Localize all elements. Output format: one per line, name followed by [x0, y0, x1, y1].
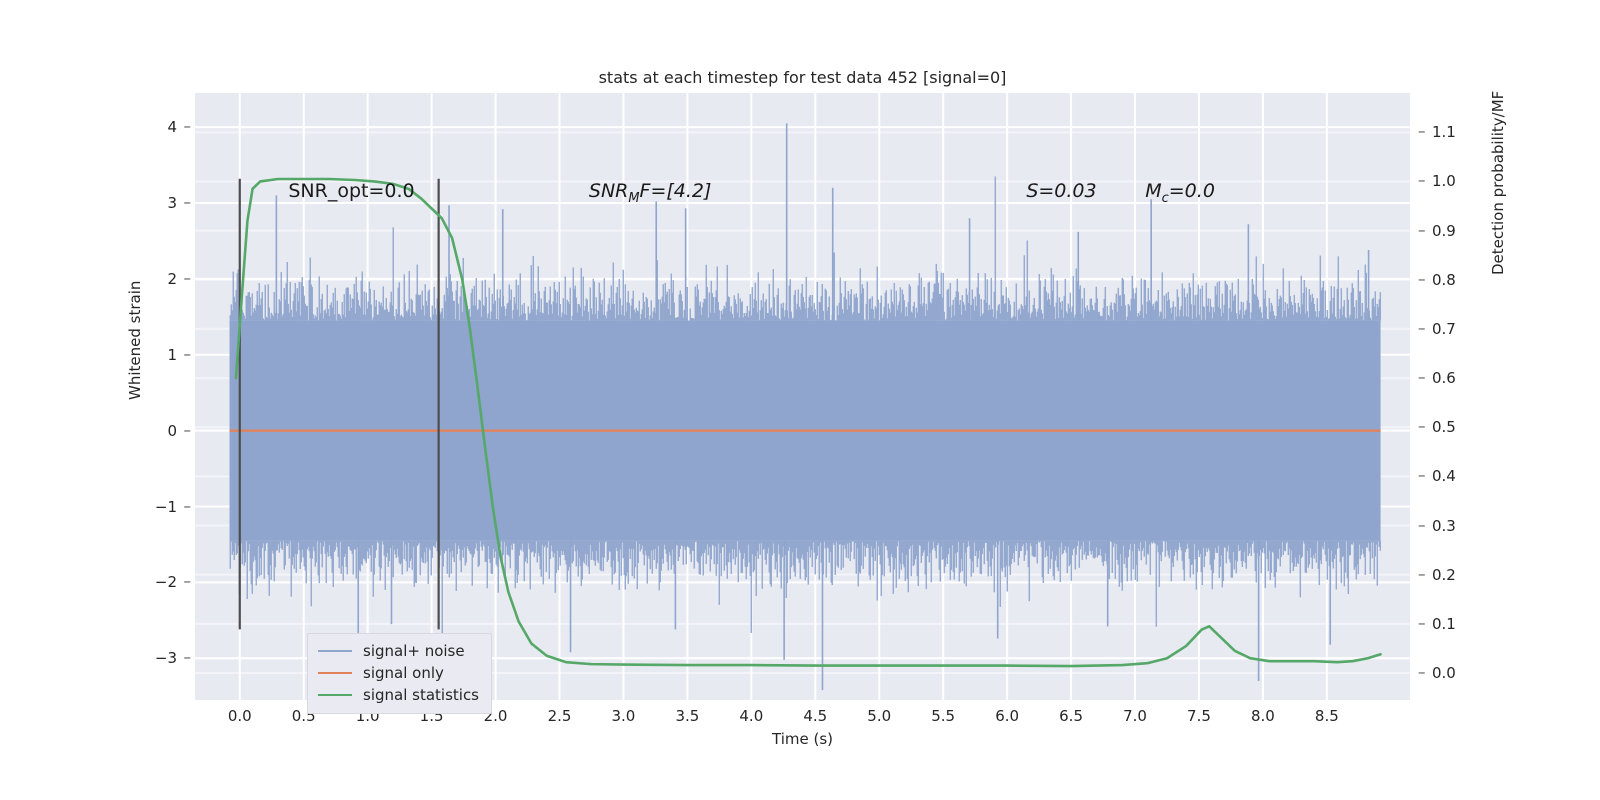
legend-item-2[interactable]: signal statistics	[318, 684, 479, 706]
tick-mark: –	[184, 271, 192, 286]
tick-mark: –	[184, 195, 192, 210]
y-tick-right-7: –0.4	[1432, 469, 1502, 484]
plot-area: SNR_opt=0.0SNRMF=[4.2]S=0.03Mc=0.0	[195, 93, 1410, 700]
tick-mark: –	[1418, 419, 1426, 434]
legend-item-0[interactable]: signal+ noise	[318, 640, 479, 662]
tick-mark: –	[1418, 321, 1426, 336]
tick-mark: –	[1418, 223, 1426, 238]
x-tick-12: 6.0	[977, 709, 1037, 724]
annotation-mc-stat: Mc=0.0	[1145, 182, 1215, 206]
y-tick-right-9: –0.2	[1432, 568, 1502, 583]
x-tick-11: 5.5	[913, 709, 973, 724]
x-tick-13: 6.5	[1041, 709, 1101, 724]
y-tick-right-5: –0.6	[1432, 371, 1502, 386]
tick-mark: –	[184, 499, 192, 514]
legend-item-label: signal only	[363, 664, 444, 682]
tick-mark: –	[1418, 665, 1426, 680]
tick-mark: –	[1418, 370, 1426, 385]
annotation-snr-mf: SNRMF=[4.2]	[589, 182, 712, 206]
y-tick-right-3: –0.8	[1432, 273, 1502, 288]
x-tick-9: 4.5	[785, 709, 845, 724]
y-tick-left-6: −2–	[117, 575, 177, 590]
legend-item-1[interactable]: signal only	[318, 662, 479, 684]
x-tick-14: 7.0	[1105, 709, 1165, 724]
tick-mark: –	[1418, 567, 1426, 582]
x-axis-label: Time (s)	[195, 730, 1410, 748]
tick-mark: –	[1418, 173, 1426, 188]
y-tick-right-11: –0.0	[1432, 666, 1502, 681]
y-axis-left-label: Whitened strain	[126, 281, 144, 400]
y-tick-right-10: –0.1	[1432, 617, 1502, 632]
tick-mark: –	[184, 119, 192, 134]
x-tick-15: 7.5	[1169, 709, 1229, 724]
x-tick-10: 5.0	[849, 709, 909, 724]
y-tick-left-4: 0–	[117, 424, 177, 439]
y-tick-right-6: –0.5	[1432, 420, 1502, 435]
legend-item-label: signal statistics	[363, 686, 479, 704]
legend-item-label: signal+ noise	[363, 642, 465, 660]
tick-mark: –	[184, 650, 192, 665]
y-tick-left-5: −1–	[117, 500, 177, 515]
series-signal-noise	[230, 123, 1382, 690]
x-tick-17: 8.5	[1297, 709, 1357, 724]
legend-swatch-icon	[318, 650, 352, 652]
figure-canvas: stats at each timestep for test data 452…	[0, 0, 1600, 800]
chart-legend: signal+ noisesignal onlysignal statistic…	[307, 633, 492, 714]
tick-mark: –	[1418, 272, 1426, 287]
y-tick-left-7: −3–	[117, 651, 177, 666]
annotation-s-stat: S=0.03	[1026, 182, 1096, 201]
tick-mark: –	[1418, 616, 1426, 631]
page-title: stats at each timestep for test data 452…	[195, 68, 1410, 87]
tick-mark: –	[1418, 468, 1426, 483]
y-axis-right-label: Detection probability/MF	[1489, 91, 1507, 275]
legend-swatch-icon	[318, 694, 352, 696]
legend-swatch-icon	[318, 672, 352, 674]
x-tick-7: 3.5	[657, 709, 717, 724]
tick-mark: –	[184, 347, 192, 362]
tick-mark: –	[1418, 124, 1426, 139]
x-tick-6: 3.0	[593, 709, 653, 724]
tick-mark: –	[184, 423, 192, 438]
annotation-snr-opt: SNR_opt=0.0	[288, 182, 414, 201]
tick-mark: –	[184, 574, 192, 589]
x-tick-8: 4.0	[721, 709, 781, 724]
tick-mark: –	[1418, 518, 1426, 533]
y-tick-left-0: 4–	[117, 120, 177, 135]
x-tick-0: 0.0	[210, 709, 270, 724]
y-tick-left-1: 3–	[117, 196, 177, 211]
y-tick-right-8: –0.3	[1432, 519, 1502, 534]
y-tick-right-4: –0.7	[1432, 322, 1502, 337]
x-tick-16: 8.0	[1233, 709, 1293, 724]
x-tick-5: 2.5	[530, 709, 590, 724]
